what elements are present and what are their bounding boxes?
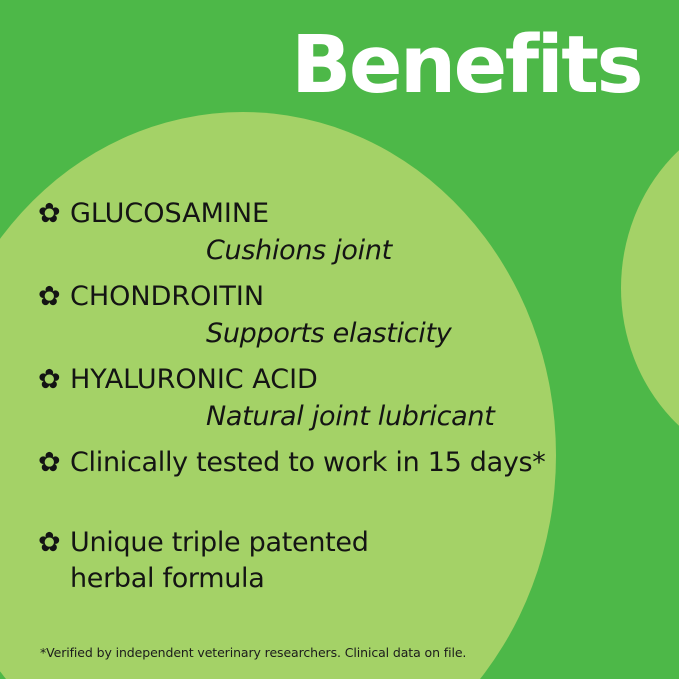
benefit-label: CHONDROITIN [70,279,264,315]
benefits-list: ✿ GLUCOSAMINE Cushions joint ✿ CHONDROIT… [38,196,638,597]
benefit-subtext: Natural joint lubricant [206,399,638,435]
flower-bullet-icon: ✿ [38,196,60,232]
footnote-disclaimer: *Verified by independent veterinary rese… [40,645,466,661]
benefit-label: GLUCOSAMINE [70,196,269,232]
benefit-subtext: Cushions joint [206,233,638,269]
flower-bullet-icon: ✿ [38,525,60,561]
list-item: ✿ HYALURONIC ACID Natural joint lubrican… [38,362,638,435]
flower-bullet-icon: ✿ [38,362,60,398]
flower-bullet-icon: ✿ [38,279,60,315]
flower-bullet-icon: ✿ [38,445,60,481]
benefit-label: Unique triple patented herbal formula [70,525,369,597]
benefits-poster: Benefits ✿ GLUCOSAMINE Cushions joint ✿ … [0,0,679,679]
list-item: ✿ Unique triple patented herbal formula [38,525,638,597]
list-item: ✿ GLUCOSAMINE Cushions joint [38,196,638,269]
list-item: ✿ CHONDROITIN Supports elasticity [38,279,638,352]
list-item: ✿ Clinically tested to work in 15 days* [38,445,638,481]
benefit-label: Clinically tested to work in 15 days* [70,445,545,481]
benefit-subtext: Supports elasticity [206,316,638,352]
page-title: Benefits [0,24,641,107]
benefit-label: HYALURONIC ACID [70,362,318,398]
